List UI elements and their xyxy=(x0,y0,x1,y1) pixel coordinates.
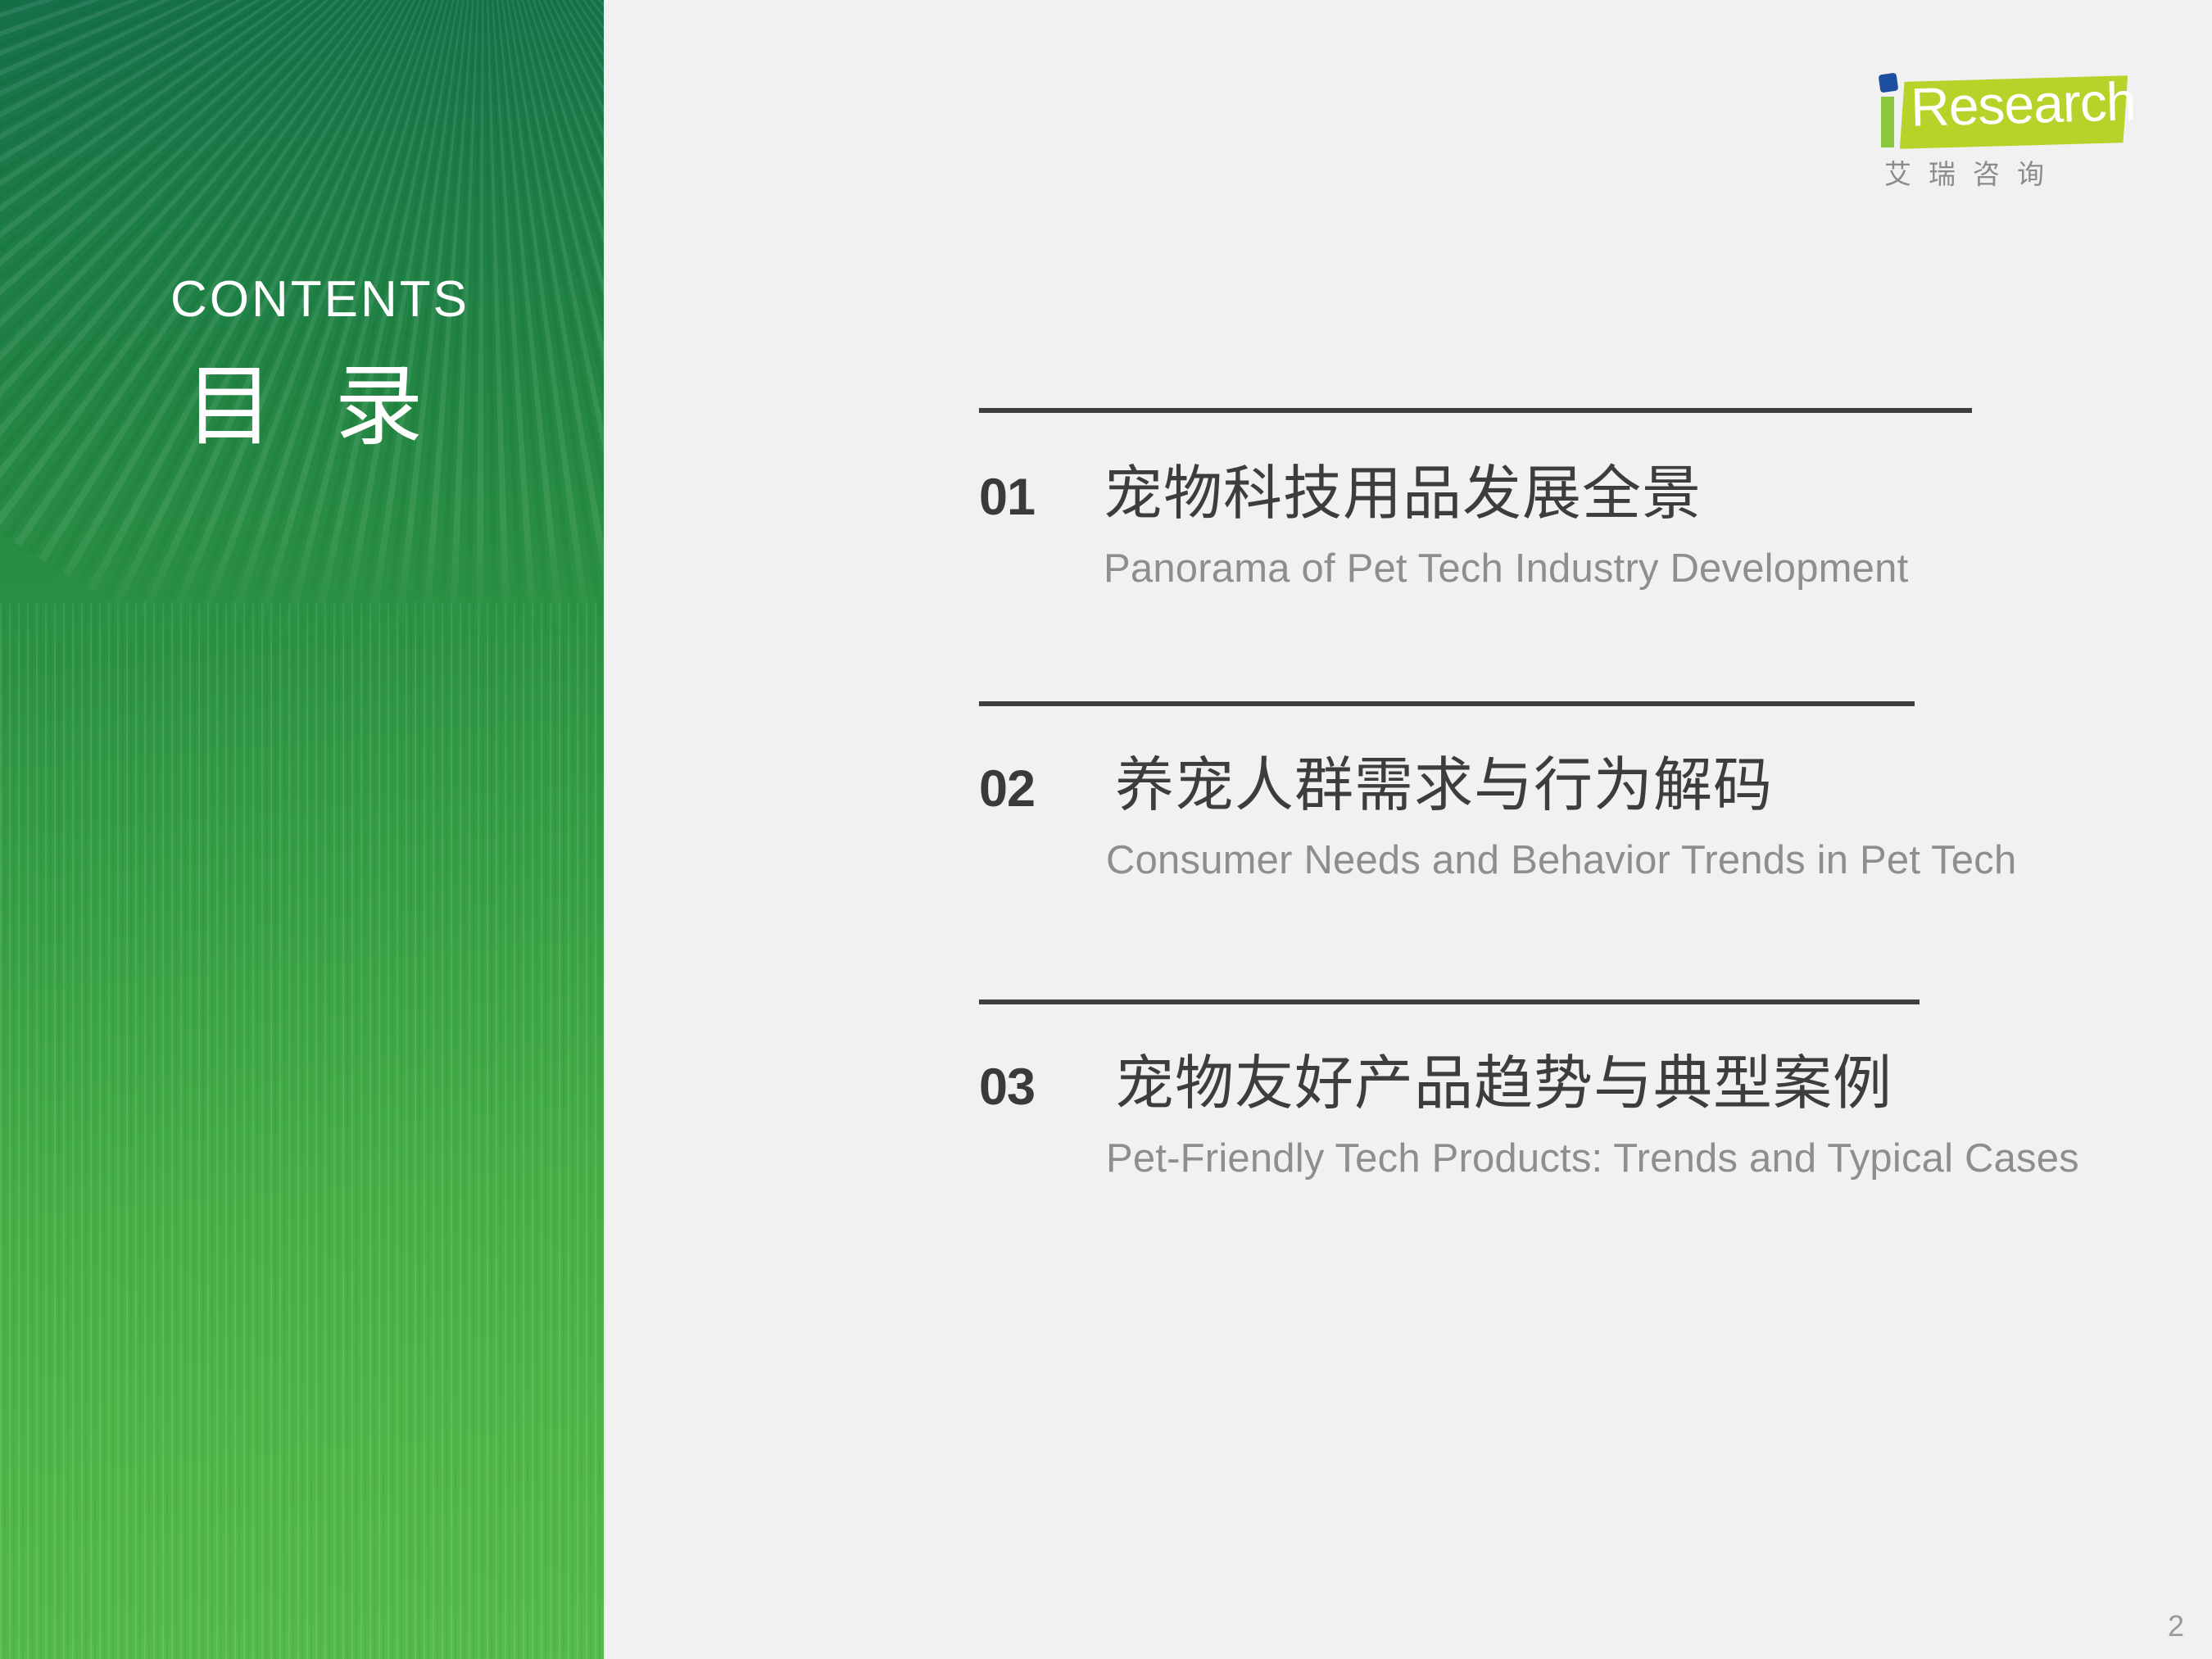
toc-texts-02: 养宠人群需求与行为解码 Consumer Needs and Behavior … xyxy=(1104,755,2016,881)
toc-title-chinese-02: 养宠人群需求与行为解码 xyxy=(1115,755,2016,814)
logo-i-stem-icon xyxy=(1881,97,1894,147)
contents-title-block: CONTENTS 目 录 xyxy=(0,274,604,451)
logo-subtitle-chinese: 艾瑞咨询 xyxy=(1884,152,2061,192)
toc-entry-02[interactable]: 02 养宠人群需求与行为解码 Consumer Needs and Behavi… xyxy=(979,701,2016,881)
toc-row-01: 01 宠物科技用品发展全景 Panorama of Pet Tech Indus… xyxy=(979,464,1972,589)
toc-texts-03: 宠物友好产品趋势与典型案例 Pet-Friendly Tech Products… xyxy=(1104,1054,2079,1179)
vertical-stripes-decoration xyxy=(0,602,604,1659)
slide-canvas: CONTENTS 目 录 Research 艾瑞咨询 01 宠物科技用品发展全景… xyxy=(0,0,2212,1659)
toc-row-03: 03 宠物友好产品趋势与典型案例 Pet-Friendly Tech Produ… xyxy=(979,1054,2079,1179)
toc-divider-01 xyxy=(979,408,1972,413)
toc-texts-01: 宠物科技用品发展全景 Panorama of Pet Tech Industry… xyxy=(1104,464,1972,589)
toc-divider-03 xyxy=(979,999,1920,1004)
toc-row-02: 02 养宠人群需求与行为解码 Consumer Needs and Behavi… xyxy=(979,755,2016,881)
toc-title-english-01: Panorama of Pet Tech Industry Developmen… xyxy=(1104,549,1972,589)
toc-title-chinese-01: 宠物科技用品发展全景 xyxy=(1104,464,1972,523)
toc-number-02: 02 xyxy=(979,755,1104,815)
iresearch-logo: Research 艾瑞咨询 xyxy=(1874,64,2128,195)
toc-number-01: 01 xyxy=(979,464,1104,524)
logo-i-dot-icon xyxy=(1879,73,1899,93)
contents-title-chinese: 目 录 xyxy=(185,363,604,451)
toc-number-03: 03 xyxy=(979,1054,1104,1113)
page-number: 2 xyxy=(2168,1611,2184,1641)
toc-title-chinese-03: 宠物友好产品趋势与典型案例 xyxy=(1115,1054,2079,1113)
contents-title-english: CONTENTS xyxy=(170,274,604,325)
toc-entry-01[interactable]: 01 宠物科技用品发展全景 Panorama of Pet Tech Indus… xyxy=(979,408,1972,589)
toc-title-english-03: Pet-Friendly Tech Products: Trends and T… xyxy=(1106,1139,2079,1179)
toc-entry-03[interactable]: 03 宠物友好产品趋势与典型案例 Pet-Friendly Tech Produ… xyxy=(979,999,2079,1179)
toc-divider-02 xyxy=(979,701,1915,706)
logo-wordmark: Research xyxy=(1910,74,2133,134)
stripes-fade-decoration xyxy=(0,602,604,651)
toc-title-english-02: Consumer Needs and Behavior Trends in Pe… xyxy=(1106,841,2016,881)
sidebar-green-panel: CONTENTS 目 录 xyxy=(0,0,604,1659)
